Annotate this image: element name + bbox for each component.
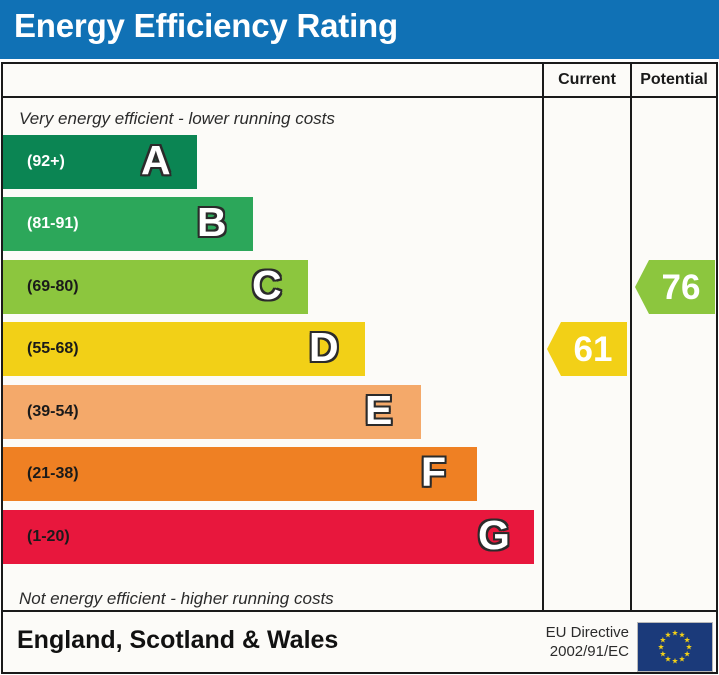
- band-letter-e: E: [365, 390, 392, 431]
- band-range-g: (1-20): [27, 528, 70, 546]
- caption-inefficient: Not energy efficient - higher running co…: [19, 589, 334, 609]
- footer-region-label: England, Scotland & Wales: [17, 626, 338, 655]
- footer-directive-line2: 2002/91/EC: [523, 643, 629, 662]
- eu-flag-stars: [638, 623, 712, 671]
- band-range-c: (69-80): [27, 278, 79, 296]
- current-rating-value: 61: [562, 332, 613, 367]
- band-letter-d: D: [309, 327, 339, 368]
- band-bar-f: (21-38) F: [3, 447, 477, 501]
- band-bar-g: (1-20) G: [3, 510, 534, 564]
- potential-rating-value: 76: [650, 270, 701, 305]
- band-bar-a: (92+) A: [3, 135, 197, 189]
- column-divider-current: [542, 98, 544, 610]
- band-letter-a: A: [141, 140, 171, 181]
- footer-directive: EU Directive 2002/91/EC: [523, 624, 629, 662]
- chart-title-bar: Energy Efficiency Rating: [0, 0, 719, 59]
- band-range-d: (55-68): [27, 340, 79, 358]
- band-letter-g: G: [478, 515, 510, 556]
- band-bar-c: (69-80) C: [3, 260, 308, 314]
- footer-directive-line1: EU Directive: [523, 624, 629, 643]
- band-bar-b: (81-91) B: [3, 197, 253, 251]
- band-range-e: (39-54): [27, 403, 79, 421]
- caption-efficient: Very energy efficient - lower running co…: [19, 109, 335, 129]
- rating-table: Current Potential Very energy efficient …: [1, 62, 718, 612]
- band-bar-d: (55-68) D: [3, 322, 365, 376]
- current-rating-arrow: 61: [547, 322, 627, 376]
- band-letter-b: B: [197, 202, 227, 243]
- band-letter-c: C: [252, 265, 282, 306]
- column-header-current: Current: [542, 64, 630, 96]
- band-range-b: (81-91): [27, 215, 79, 233]
- column-header-row: Current Potential: [3, 64, 716, 98]
- band-range-f: (21-38): [27, 465, 79, 483]
- page-title: Energy Efficiency Rating: [14, 7, 398, 45]
- eu-flag-icon: [637, 622, 713, 672]
- band-range-a: (92+): [27, 153, 65, 171]
- band-letter-f: F: [421, 452, 446, 493]
- band-bar-e: (39-54) E: [3, 385, 421, 439]
- column-header-potential: Potential: [630, 64, 716, 96]
- footer-bar: England, Scotland & Wales EU Directive 2…: [1, 612, 718, 674]
- column-divider-potential: [630, 98, 632, 610]
- energy-efficiency-rating-chart: Energy Efficiency Rating Current Potenti…: [0, 0, 719, 675]
- potential-rating-arrow: 76: [635, 260, 715, 314]
